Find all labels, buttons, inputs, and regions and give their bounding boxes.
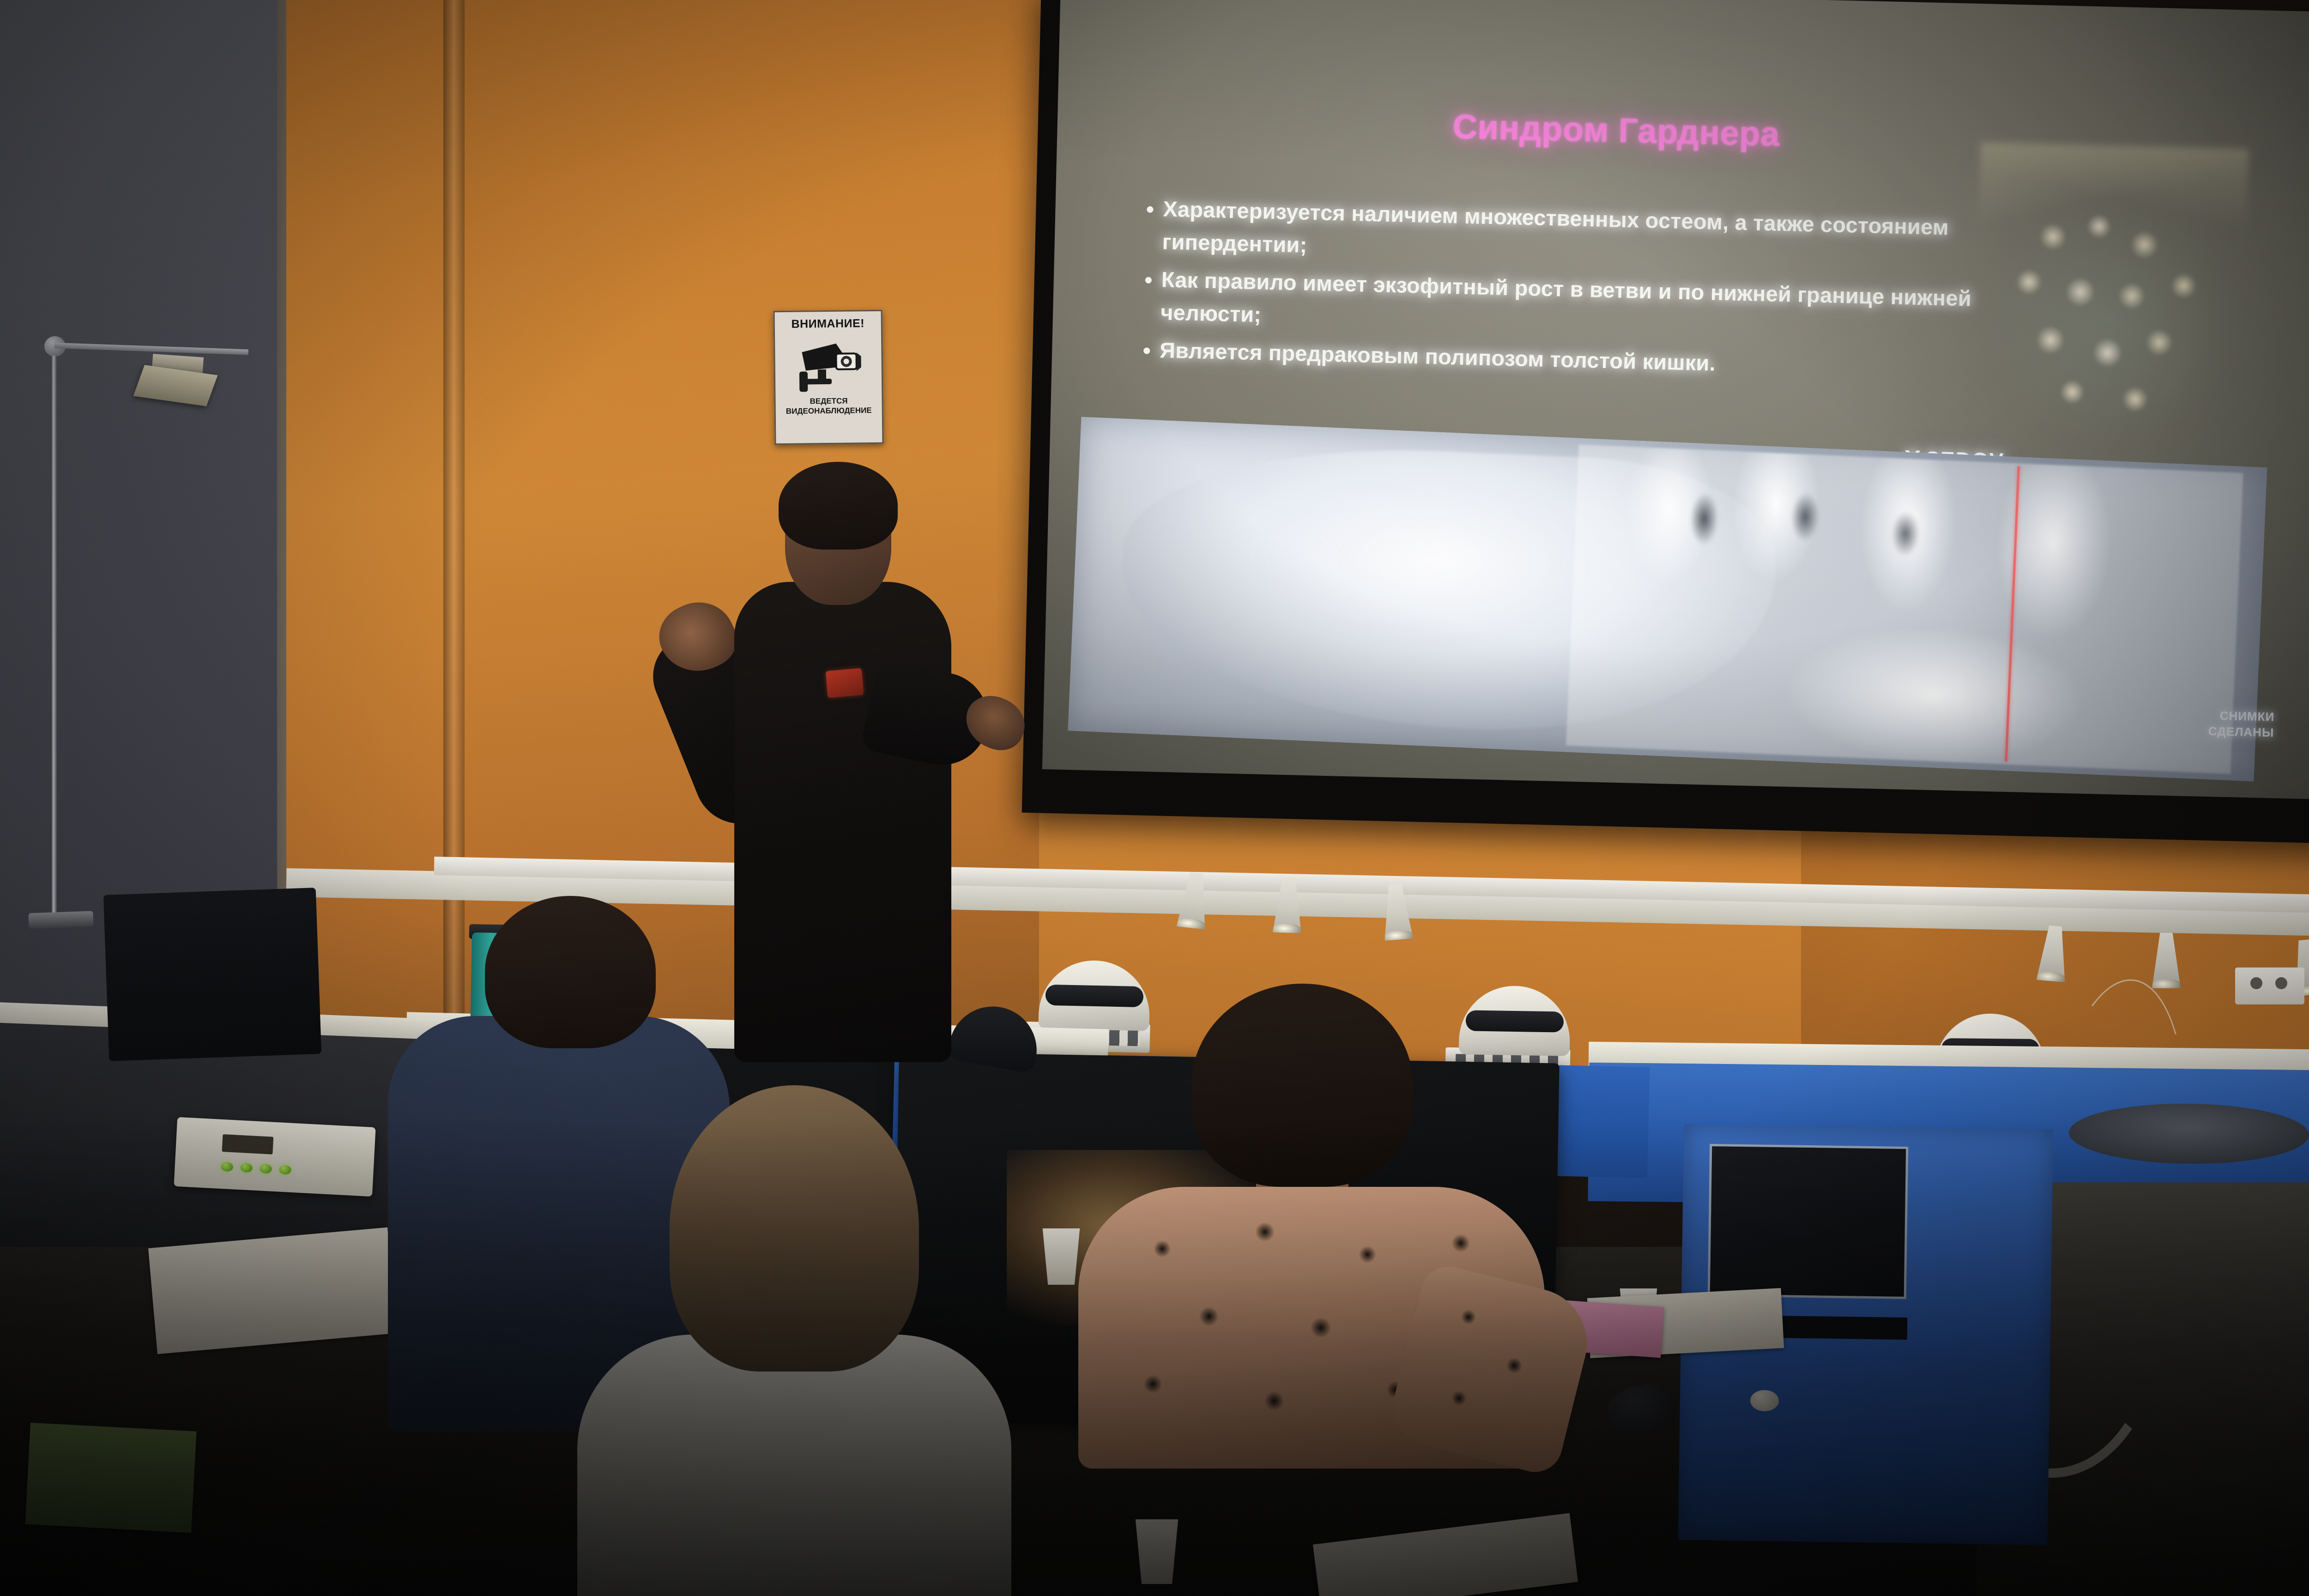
wall-outlet-1[interactable]: [2235, 967, 2304, 1004]
student-floral-hair: [1191, 984, 1413, 1187]
warning-sign-line1: ВЕДЕТСЯ: [810, 396, 847, 406]
screen-vignette: [1042, 0, 2309, 800]
student-left-hair: [485, 896, 656, 1048]
lab-device-display: [222, 1134, 273, 1155]
cabinet-knob[interactable]: [1750, 1390, 1779, 1412]
warning-sign-line2: ВИДЕОНАБЛЮДЕНИЕ: [786, 405, 872, 416]
presenter-badge: [826, 668, 864, 698]
student-center-hair: [670, 1085, 919, 1372]
cctv-camera-icon: [793, 336, 863, 392]
presenter-torso: [734, 582, 951, 1062]
lab-device-led-2: [240, 1163, 253, 1173]
dental-unit-control-box[interactable]: [174, 1117, 375, 1197]
floor-lamp-pole: [52, 356, 57, 924]
presenter-hair: [779, 462, 898, 550]
lab-device-led-1: [221, 1162, 233, 1172]
presenter-lecturer: [693, 453, 979, 1062]
wall-left-grey: [0, 0, 291, 1039]
photo-scene: Синдром Гарднера Характеризуется наличие…: [0, 0, 2309, 1596]
green-brochure[interactable]: [25, 1423, 196, 1533]
student-center-foreground: [531, 1085, 1039, 1596]
cctv-warning-sign: ВНИМАНИЕ! ВЕДЕТСЯ ВИДЕОНАБЛЮДЕНИЕ: [773, 310, 883, 445]
monitor-far-left[interactable]: [103, 888, 321, 1061]
warning-sign-title: ВНИМАНИЕ!: [791, 317, 864, 331]
student-center-torso: [577, 1335, 1011, 1596]
lab-device-led-4: [279, 1165, 291, 1175]
handout-paper-left[interactable]: [148, 1227, 397, 1354]
projection-screen-frame: Синдром Гарднера Характеризуется наличие…: [1022, 0, 2309, 845]
floor-lamp-base: [28, 911, 93, 929]
cabinet-glass-window: [1708, 1144, 1909, 1299]
lab-device-led-3: [260, 1164, 272, 1173]
student-floral-blouse: [1053, 984, 1570, 1469]
projection-screen-surface: Синдром Гарднера Характеризуется наличие…: [1042, 0, 2309, 800]
